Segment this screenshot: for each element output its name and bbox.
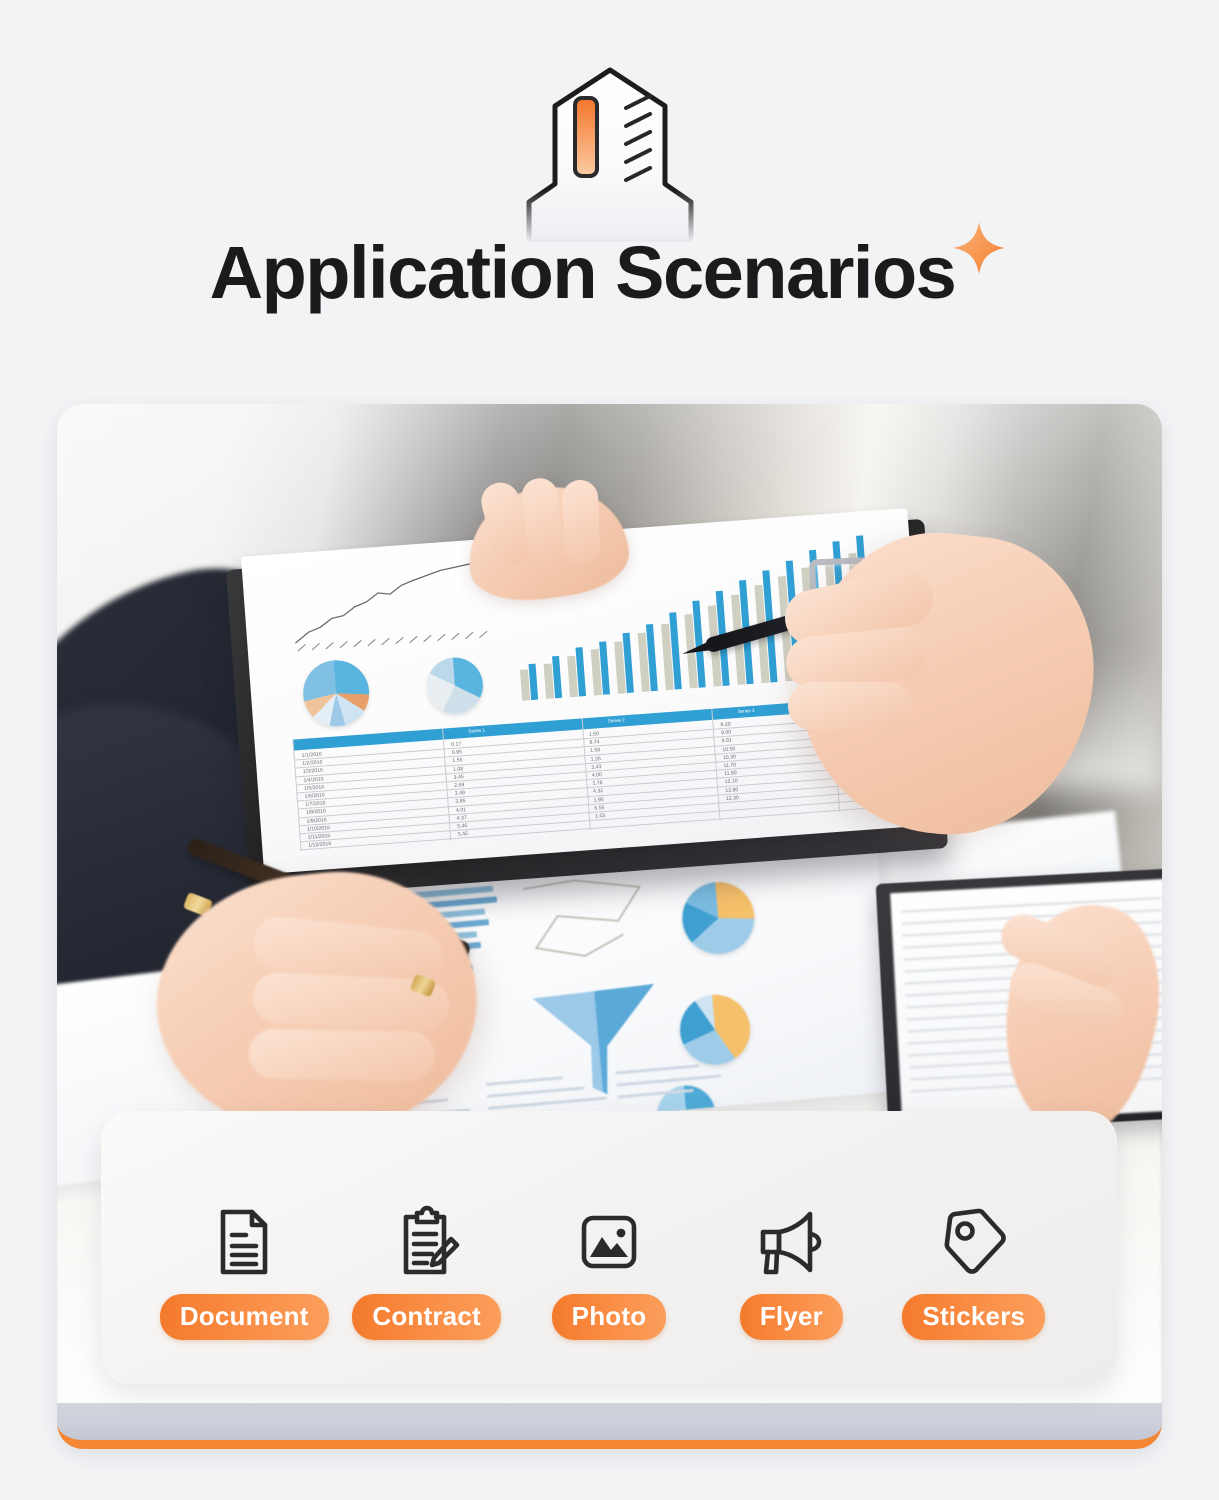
table-cell: 0.17 bbox=[451, 741, 462, 748]
table-cell: 4.01 bbox=[456, 807, 467, 814]
tag-label-document[interactable]: Document bbox=[160, 1294, 329, 1340]
table-cell: 2.69 bbox=[454, 782, 465, 789]
report-pie-1 bbox=[679, 879, 757, 957]
card-bottom-accent-bar bbox=[57, 1403, 1162, 1449]
sparkle-icon bbox=[949, 218, 1009, 278]
bar-group bbox=[666, 689, 684, 690]
bar-group bbox=[594, 694, 612, 695]
table-cell: 4.32 bbox=[593, 788, 604, 795]
table-cell: 1.43 bbox=[595, 813, 606, 820]
finger-c bbox=[562, 479, 601, 564]
table-cell: 4.00 bbox=[592, 772, 603, 779]
right-finger-3 bbox=[788, 682, 912, 730]
bar-series-1 bbox=[529, 663, 539, 700]
clipboard-paper-line bbox=[901, 897, 1161, 912]
table-cell: 1.26 bbox=[590, 756, 601, 763]
building-tower-icon bbox=[495, 62, 725, 242]
pie-chart-2 bbox=[425, 656, 485, 716]
application-scenarios-page: Application Scenarios bbox=[0, 0, 1219, 1500]
report-pie-2 bbox=[677, 992, 753, 1068]
clipboard-pencil-icon bbox=[389, 1204, 465, 1280]
table-cell: 12.30 bbox=[726, 795, 739, 802]
scenario-tag-photo[interactable]: Photo bbox=[518, 1156, 700, 1340]
report-funnel-chart bbox=[528, 982, 667, 1103]
bar-group bbox=[642, 691, 660, 692]
bar-group bbox=[570, 696, 588, 697]
tag-label-flyer[interactable]: Flyer bbox=[740, 1294, 843, 1340]
table-cell: 1/2/2016 bbox=[302, 760, 323, 767]
pie-chart-1 bbox=[301, 658, 372, 729]
title-row: Application Scenarios bbox=[0, 236, 1219, 310]
table-cell: 1/3/2016 bbox=[303, 768, 324, 775]
table-cell: 12.10 bbox=[725, 779, 738, 786]
table-cell: 3.85 bbox=[455, 799, 466, 806]
bar-group bbox=[762, 682, 780, 683]
price-tag-icon bbox=[936, 1204, 1012, 1280]
page-header: Application Scenarios bbox=[0, 0, 1219, 395]
table-cell: 12.80 bbox=[725, 787, 738, 794]
scenario-tag-stickers[interactable]: Stickers bbox=[883, 1156, 1065, 1340]
table-cell: 1.78 bbox=[592, 780, 603, 787]
document-icon bbox=[206, 1204, 282, 1280]
table-cell: 1/9/2016 bbox=[306, 817, 327, 824]
table-cell: 5.46 bbox=[457, 823, 468, 830]
table-cell: 9.91 bbox=[722, 738, 733, 745]
table-cell: 3.43 bbox=[591, 764, 602, 771]
table-cell: 1/4/2016 bbox=[303, 776, 324, 783]
table-cell: 9.20 bbox=[720, 722, 731, 729]
report-scatter-lines bbox=[519, 872, 656, 973]
table-cell: 1.08 bbox=[453, 766, 464, 773]
scenario-tag-flyer[interactable]: Flyer bbox=[700, 1156, 882, 1340]
bar-group bbox=[546, 698, 564, 699]
table-cell: 1/12/2016 bbox=[308, 841, 331, 849]
table-cell: 10.50 bbox=[722, 746, 735, 753]
table-cell: 8.74 bbox=[589, 739, 600, 746]
table-cell: 6.55 bbox=[594, 805, 605, 812]
table-cell: 11.80 bbox=[724, 770, 737, 777]
table-cell: 0.95 bbox=[452, 749, 463, 756]
table-cell: 3.49 bbox=[455, 790, 466, 797]
scenario-tag-contract[interactable]: Contract bbox=[335, 1156, 517, 1340]
tag-label-photo[interactable]: Photo bbox=[552, 1294, 667, 1340]
table-cell: 1/8/2016 bbox=[306, 809, 327, 816]
scenario-tag-document[interactable]: Document bbox=[153, 1156, 335, 1340]
table-cell: 5.45 bbox=[458, 831, 469, 838]
table-cell: 9.60 bbox=[721, 730, 732, 737]
table-cell: 4.37 bbox=[456, 815, 467, 822]
table-cell: 1.58 bbox=[590, 748, 601, 755]
scenario-tag-panel: Document Contract bbox=[101, 1111, 1117, 1384]
bar-group bbox=[714, 685, 732, 686]
left-finger-3 bbox=[249, 1028, 436, 1081]
tag-label-stickers[interactable]: Stickers bbox=[902, 1294, 1045, 1340]
bar-group bbox=[522, 699, 540, 700]
table-cell: 11.70 bbox=[723, 762, 736, 769]
bar-group bbox=[738, 684, 756, 685]
bar-group bbox=[618, 692, 636, 693]
bar-group bbox=[690, 687, 708, 688]
table-cell: 10.30 bbox=[723, 754, 736, 761]
scenario-tag-list: Document Contract bbox=[101, 1111, 1117, 1384]
table-cell: 3.45 bbox=[453, 774, 464, 781]
megaphone-icon bbox=[753, 1204, 829, 1280]
page-title: Application Scenarios bbox=[210, 236, 956, 310]
tag-label-contract[interactable]: Contract bbox=[352, 1294, 501, 1340]
table-cell: 1.50 bbox=[589, 731, 600, 738]
table-cell: 1/5/2016 bbox=[304, 784, 325, 791]
table-cell: 1.95 bbox=[593, 797, 604, 804]
table-cell: 1/7/2016 bbox=[305, 801, 326, 808]
image-icon bbox=[571, 1204, 647, 1280]
table-cell: 1.56 bbox=[452, 758, 463, 765]
